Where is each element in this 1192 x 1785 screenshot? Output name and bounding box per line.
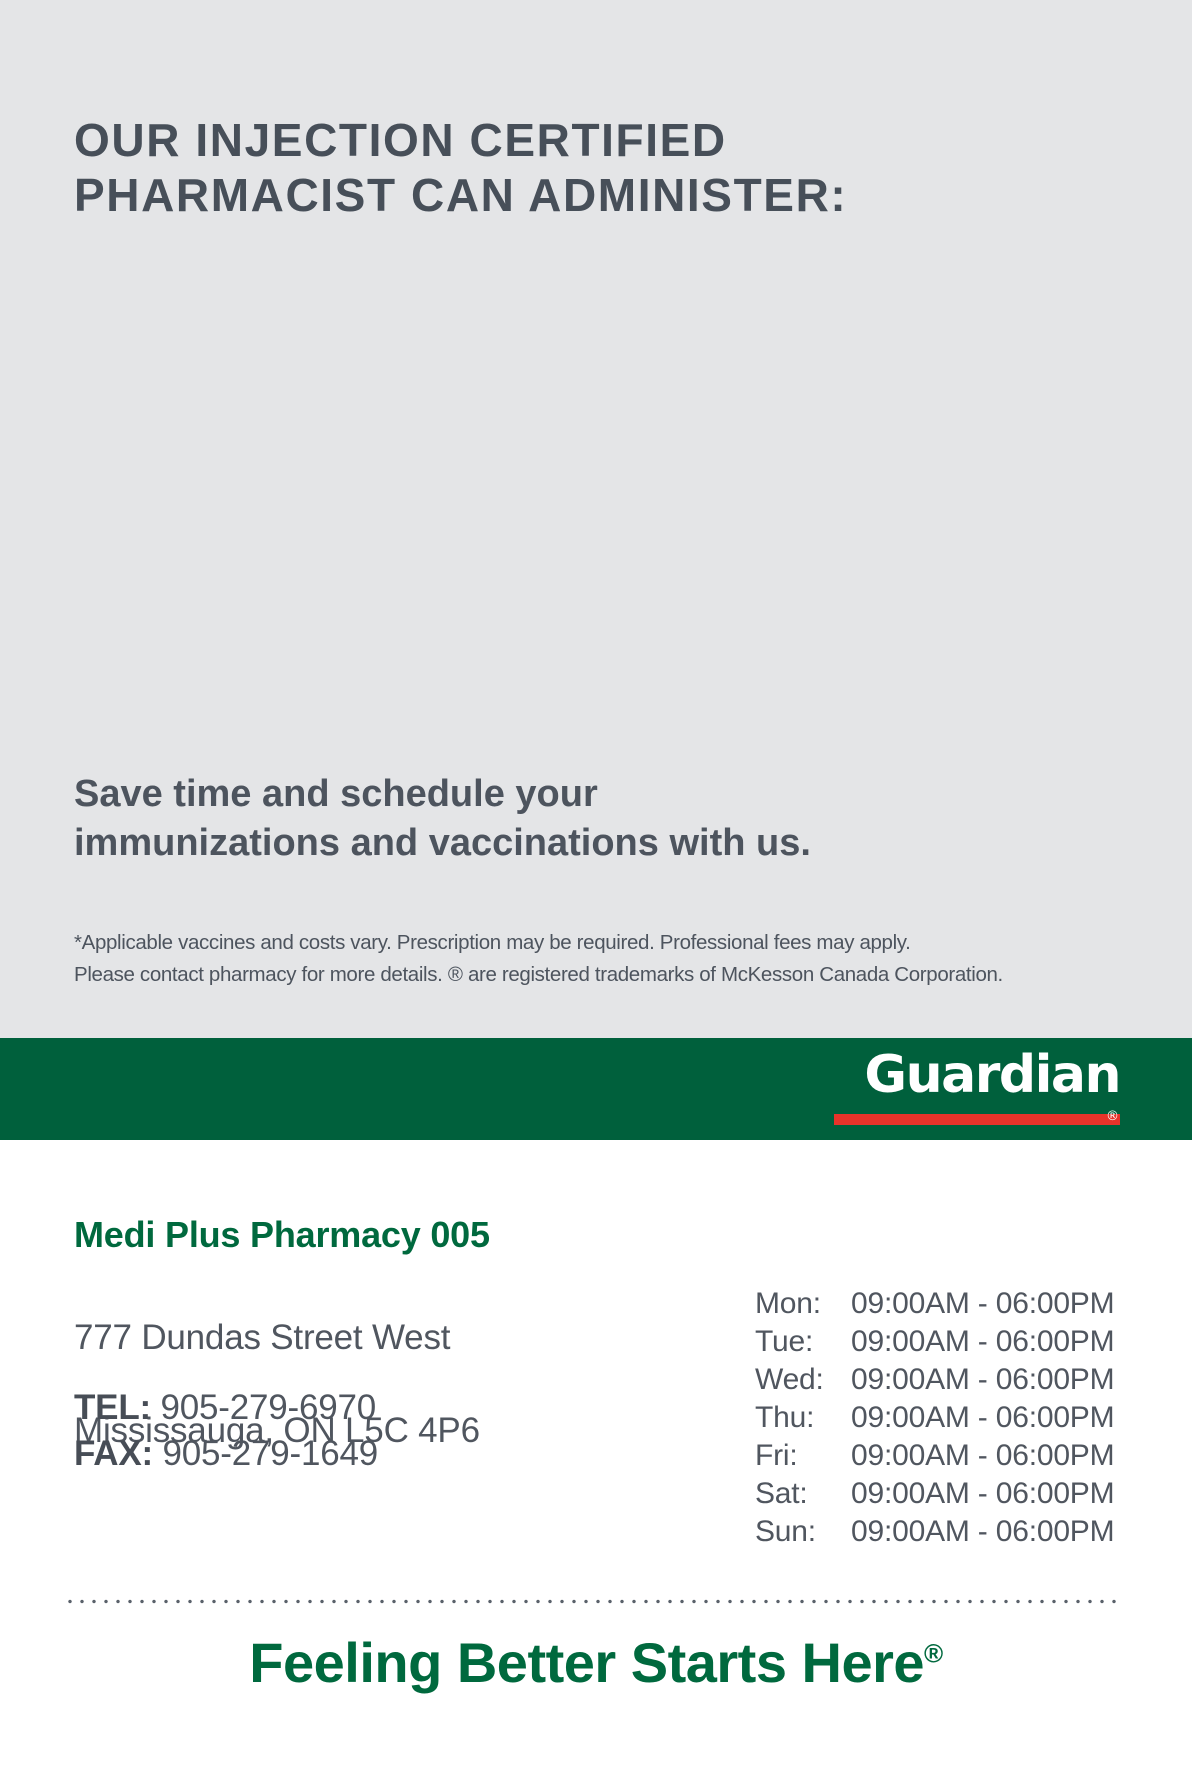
- telephone-label: TEL:: [74, 1388, 151, 1427]
- fax-row: FAX: 905-279-1649: [74, 1431, 378, 1477]
- store-contact: TEL: 905-279-6970 FAX: 905-279-1649: [74, 1385, 378, 1477]
- table-row: Fri: 09:00AM - 06:00PM: [755, 1437, 1155, 1475]
- table-row: Wed: 09:00AM - 06:00PM: [755, 1361, 1155, 1399]
- table-row: Sun: 09:00AM - 06:00PM: [755, 1513, 1155, 1551]
- store-name: Medi Plus Pharmacy 005: [74, 1214, 490, 1256]
- guardian-logo: Guardian ®: [820, 1052, 1120, 1128]
- hours-time: 09:00AM - 06:00PM: [851, 1475, 1155, 1513]
- disclaimer-line-2: Please contact pharmacy for more details…: [74, 959, 1134, 991]
- page-headline: OUR INJECTION CERTIFIED PHARMACIST CAN A…: [74, 113, 1074, 222]
- table-row: Sat: 09:00AM - 06:00PM: [755, 1475, 1155, 1513]
- hours-day: Sun:: [755, 1513, 851, 1551]
- table-row: Thu: 09:00AM - 06:00PM: [755, 1399, 1155, 1437]
- store-hours-table: Mon: 09:00AM - 06:00PM Tue: 09:00AM - 06…: [755, 1285, 1155, 1551]
- telephone-row: TEL: 905-279-6970: [74, 1385, 378, 1431]
- hours-day: Tue:: [755, 1323, 851, 1361]
- store-info-section: Medi Plus Pharmacy 005 777 Dundas Street…: [0, 1140, 1192, 1785]
- telephone-value: 905-279-6970: [161, 1388, 377, 1427]
- guardian-red-underline: [834, 1114, 1120, 1125]
- address-line-1: 777 Dundas Street West: [74, 1315, 480, 1362]
- hours-day: Sat:: [755, 1475, 851, 1513]
- brand-tagline: Feeling Better Starts Here®: [0, 1630, 1192, 1695]
- dotted-divider: [64, 1599, 1124, 1604]
- hours-time: 09:00AM - 06:00PM: [851, 1399, 1155, 1437]
- subheadline: Save time and schedule your immunization…: [74, 770, 1034, 867]
- hours-day: Wed:: [755, 1361, 851, 1399]
- table-row: Mon: 09:00AM - 06:00PM: [755, 1285, 1155, 1323]
- guardian-wordmark: Guardian: [820, 1048, 1120, 1103]
- hours-time: 09:00AM - 06:00PM: [851, 1361, 1155, 1399]
- top-grey-panel: OUR INJECTION CERTIFIED PHARMACIST CAN A…: [0, 0, 1192, 1038]
- fax-label: FAX:: [74, 1434, 153, 1473]
- disclaimer-text: *Applicable vaccines and costs vary. Pre…: [74, 927, 1134, 991]
- brand-band: Guardian ®: [0, 1038, 1192, 1140]
- hours-time: 09:00AM - 06:00PM: [851, 1513, 1155, 1551]
- hours-day: Mon:: [755, 1285, 851, 1323]
- tagline-text: Feeling Better Starts Here: [249, 1631, 924, 1694]
- store-hours-body: Mon: 09:00AM - 06:00PM Tue: 09:00AM - 06…: [755, 1285, 1155, 1551]
- hours-time: 09:00AM - 06:00PM: [851, 1323, 1155, 1361]
- pharmacy-flyer: OUR INJECTION CERTIFIED PHARMACIST CAN A…: [0, 0, 1192, 1785]
- guardian-registered-mark: ®: [1106, 1110, 1119, 1123]
- hours-time: 09:00AM - 06:00PM: [851, 1285, 1155, 1323]
- hours-day: Fri:: [755, 1437, 851, 1475]
- hours-time: 09:00AM - 06:00PM: [851, 1437, 1155, 1475]
- disclaimer-line-1: *Applicable vaccines and costs vary. Pre…: [74, 927, 1134, 959]
- hours-day: Thu:: [755, 1399, 851, 1437]
- tagline-registered-mark: ®: [924, 1638, 943, 1668]
- table-row: Tue: 09:00AM - 06:00PM: [755, 1323, 1155, 1361]
- fax-value: 905-279-1649: [162, 1434, 378, 1473]
